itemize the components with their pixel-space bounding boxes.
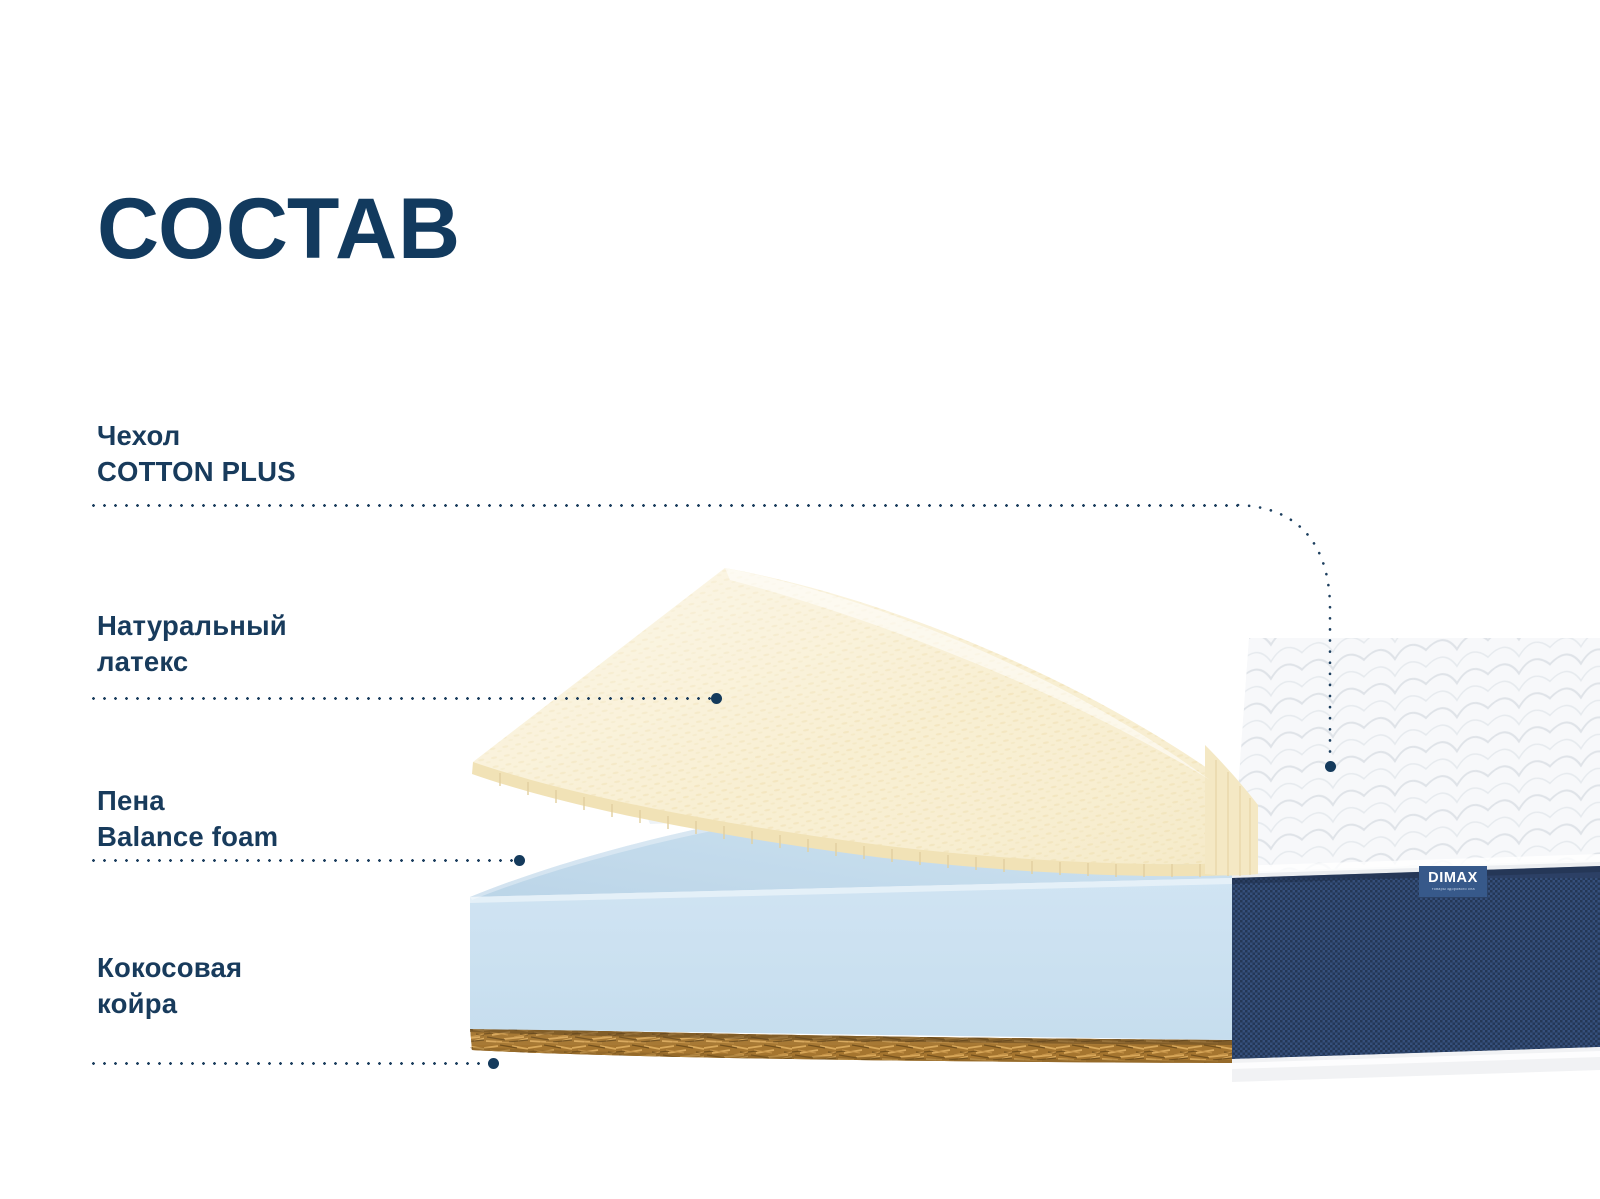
- label-latex-line1: Натуральный: [97, 608, 287, 644]
- dimax-brand: DIMAX: [1428, 871, 1478, 886]
- label-foam-line2: Balance foam: [97, 819, 278, 855]
- label-coir: Кокосовая койра: [97, 950, 242, 1022]
- dimax-badge: DIMAX товары здорового сна: [1419, 866, 1487, 897]
- leader-line-cover: [88, 504, 1238, 507]
- label-cover-line1: Чехол: [97, 418, 296, 454]
- label-coir-line2: койра: [97, 986, 242, 1022]
- cover-layer: [1232, 638, 1600, 890]
- leader-line-foam: [88, 859, 518, 862]
- label-cover-line2: COTTON PLUS: [97, 454, 296, 490]
- label-foam: Пена Balance foam: [97, 783, 278, 855]
- callout-dot-cover: [1325, 761, 1336, 772]
- leader-line-coir: [88, 1062, 492, 1065]
- slide-canvas: СОСТАВ: [0, 0, 1600, 1199]
- label-coir-line1: Кокосовая: [97, 950, 242, 986]
- label-latex: Натуральный латекс: [97, 608, 287, 680]
- border-band: [1232, 866, 1600, 1082]
- callout-dot-coir: [488, 1058, 499, 1069]
- label-latex-line2: латекс: [97, 644, 287, 680]
- label-cover: Чехол COTTON PLUS: [97, 418, 296, 490]
- label-foam-line1: Пена: [97, 783, 278, 819]
- leader-line-latex: [88, 697, 713, 700]
- callout-dot-foam: [514, 855, 525, 866]
- dimax-tagline: товары здорового сна: [1431, 886, 1474, 892]
- callout-dot-latex: [711, 693, 722, 704]
